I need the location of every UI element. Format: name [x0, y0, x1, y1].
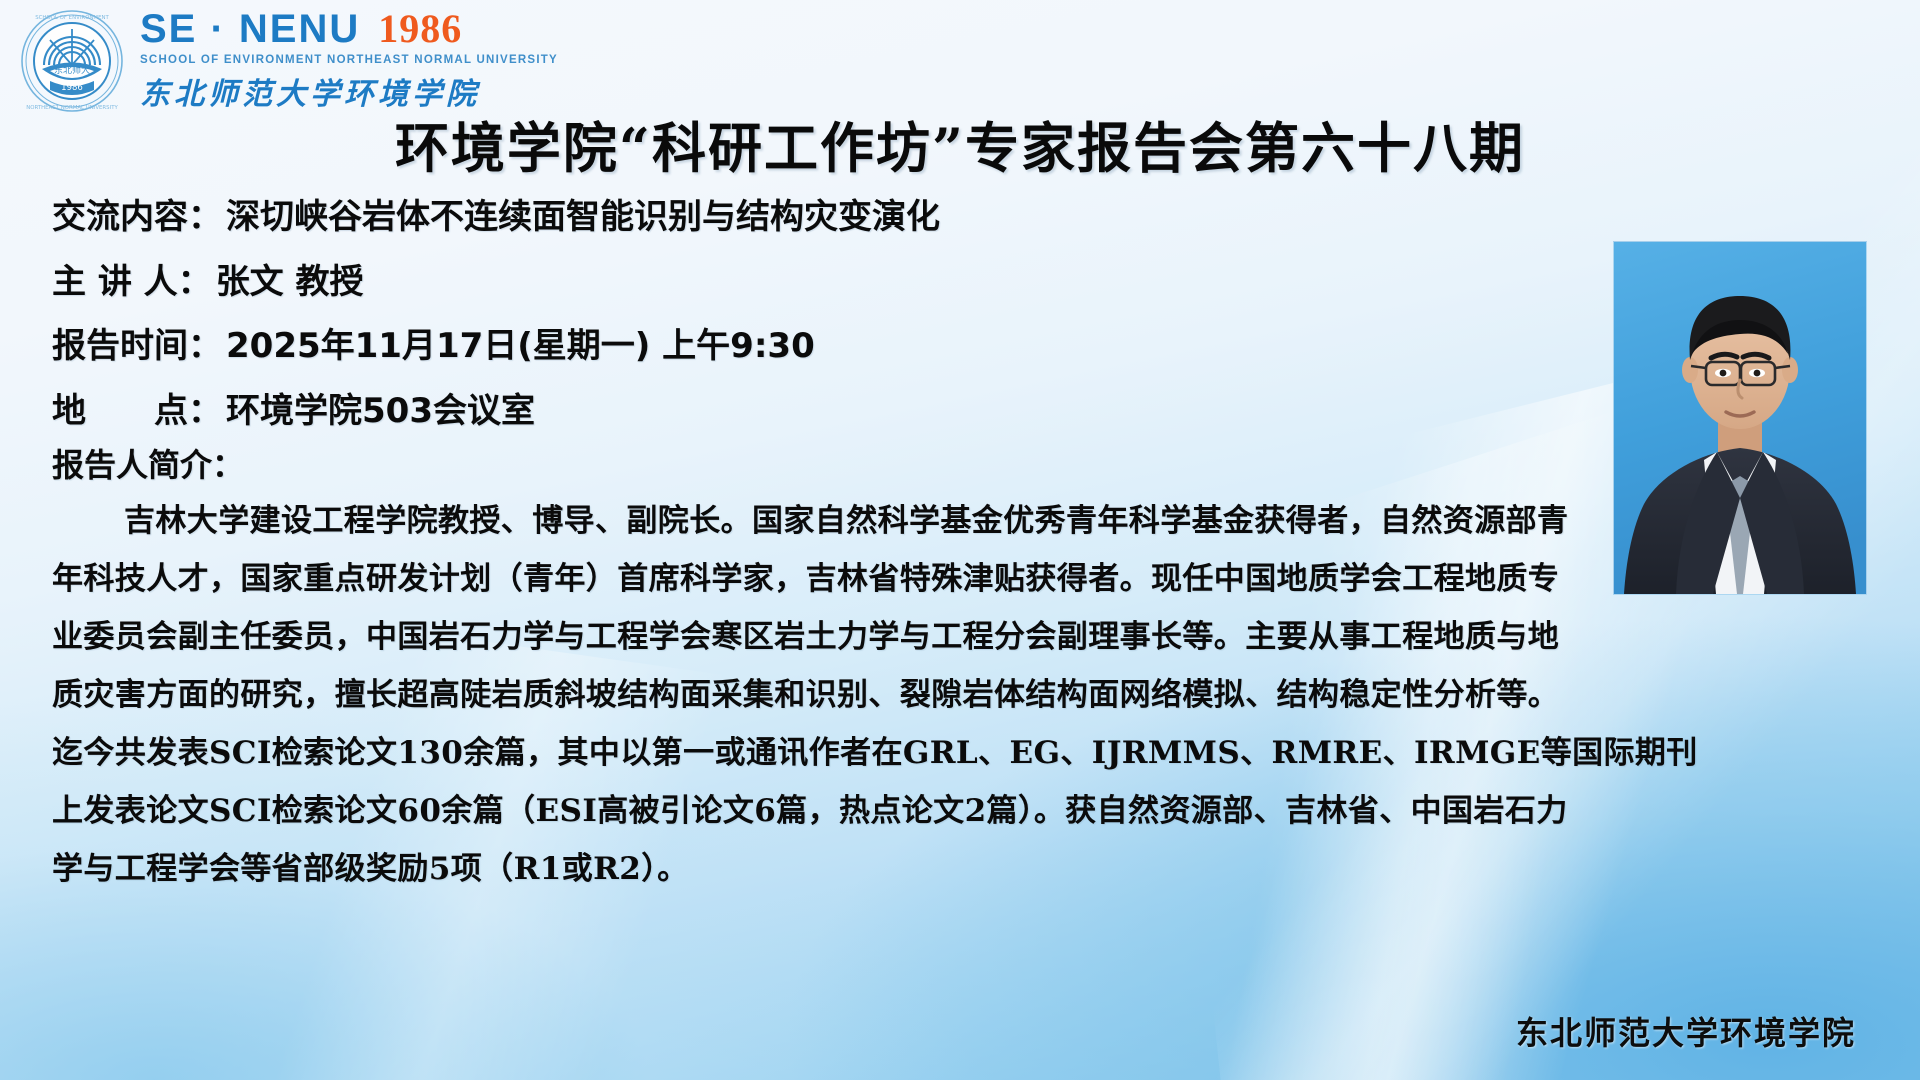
bio-line: 吉林大学建设工程学院教授、博导、副院长。国家自然科学基金优秀青年科学基金获得者，… [52, 492, 1882, 550]
bio-line: 质灾害方面的研究，擅长超高陡岩质斜坡结构面采集和识别、裂隙岩体结构面网络模拟、结… [52, 666, 1882, 724]
page-title: 环境学院“科研工作坊”专家报告会第六十八期 [0, 104, 1920, 183]
event-info-list: 交流内容： 深切峡谷岩体不连续面智能识别与结构灾变演化 主 讲 人： 张文 教授… [52, 196, 1302, 454]
info-label-topic: 交流内容： [52, 196, 222, 239]
info-value-speaker: 张文 教授 [216, 261, 364, 304]
school-logo: 东北师大 1986 SCHOOL OF ENVIRONMENT NORTHEAS… [20, 8, 558, 114]
info-label-speaker: 主 讲 人： [52, 261, 212, 304]
logo-initials: SE · NENU [140, 9, 360, 49]
bio-line: 年科技人才，国家重点研发计划（青年）首席科学家，吉林省特殊津贴获得者。现任中国地… [52, 550, 1882, 608]
logo-english-subtitle: SCHOOL OF ENVIRONMENT NORTHEAST NORMAL U… [140, 54, 558, 66]
bio-line: 业委员会副主任委员，中国岩石力学与工程学会寒区岩土力学与工程分会副理事长等。主要… [52, 608, 1882, 666]
footer-organization: 东北师范大学环境学院 [1516, 1008, 1856, 1054]
info-row-speaker: 主 讲 人： 张文 教授 [52, 261, 1302, 304]
bio-line: 上发表论文SCI检索论文60余篇（ESI高被引论文6篇，热点论文2篇）。获自然资… [52, 782, 1882, 840]
logo-year: 1986 [378, 9, 462, 49]
svg-text:1986: 1986 [61, 83, 83, 93]
info-value-topic: 深切峡谷岩体不连续面智能识别与结构灾变演化 [226, 196, 940, 239]
info-row-time: 报告时间： 2025年11月17日(星期一) 上午9:30 [52, 325, 1302, 368]
svg-text:SCHOOL OF ENVIRONMENT: SCHOOL OF ENVIRONMENT [35, 15, 109, 21]
bio-heading: 报告人简介： [52, 440, 244, 486]
university-crest-icon: 东北师大 1986 SCHOOL OF ENVIRONMENT NORTHEAS… [20, 9, 124, 113]
info-label-time: 报告时间： [52, 325, 222, 368]
logo-wordmark: SE · NENU 1986 SCHOOL OF ENVIRONMENT NOR… [140, 9, 558, 113]
info-row-topic: 交流内容： 深切峡谷岩体不连续面智能识别与结构灾变演化 [52, 196, 1302, 239]
info-value-time: 2025年11月17日(星期一) 上午9:30 [226, 325, 815, 368]
info-label-location: 地 点： [52, 390, 222, 433]
bio-line: 迄今共发表SCI检索论文130余篇，其中以第一或通讯作者在GRL、EG、IJRM… [52, 724, 1882, 782]
info-row-location: 地 点： 环境学院503会议室 [52, 390, 1302, 433]
bio-line: 学与工程学会等省部级奖励5项（R1或R2）。 [52, 840, 1882, 898]
info-value-location: 环境学院503会议室 [226, 390, 535, 433]
svg-text:东北师大: 东北师大 [54, 64, 90, 76]
bio-paragraph: 吉林大学建设工程学院教授、博导、副院长。国家自然科学基金优秀青年科学基金获得者，… [52, 492, 1882, 898]
avatar [1613, 241, 1867, 595]
poster-canvas: 东北师大 1986 SCHOOL OF ENVIRONMENT NORTHEAS… [0, 0, 1920, 1080]
